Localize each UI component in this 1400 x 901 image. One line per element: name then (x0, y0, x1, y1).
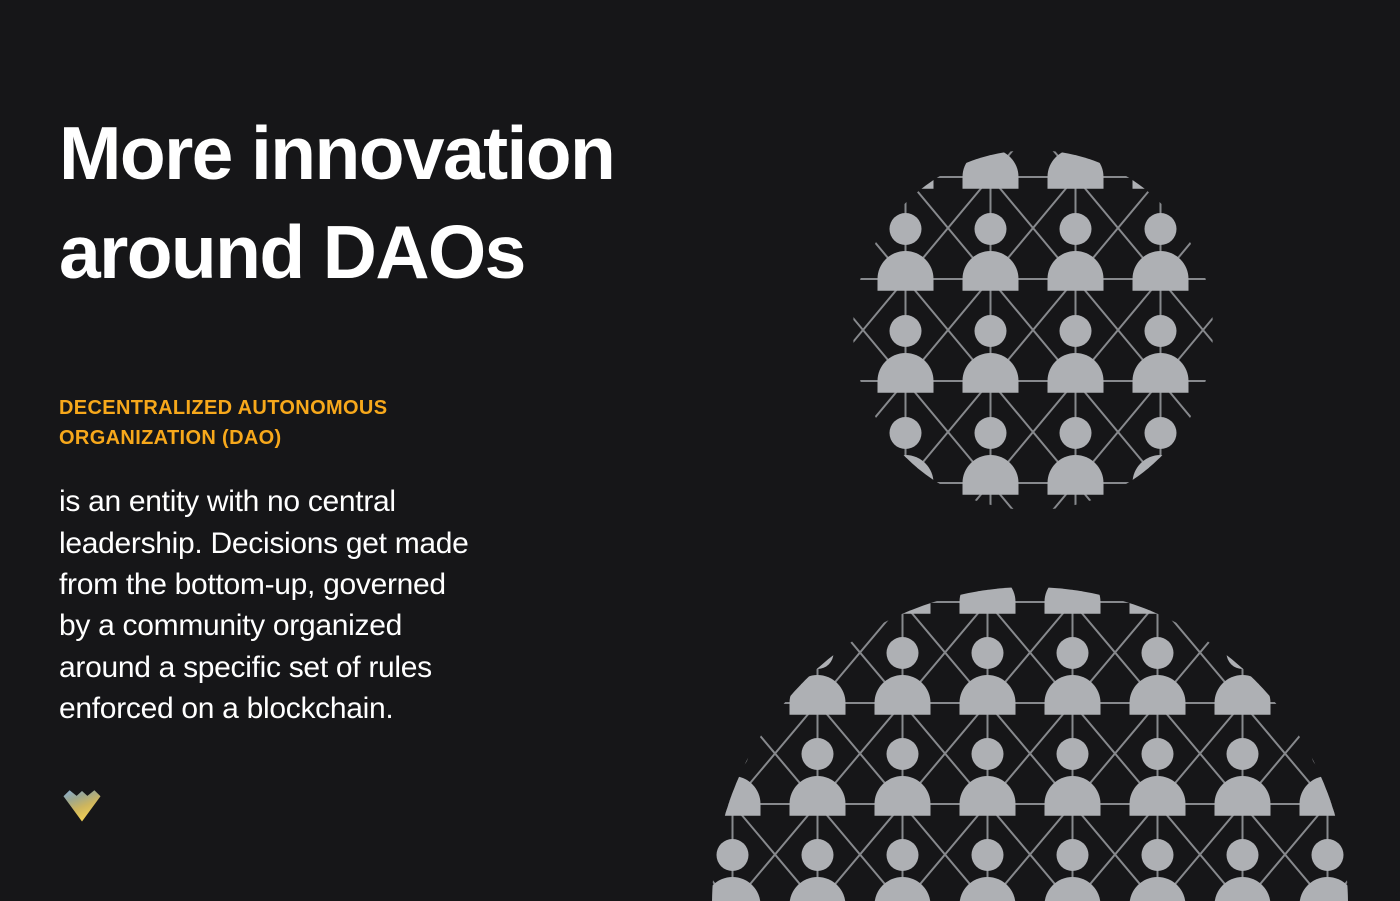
term-label: DECENTRALIZED AUTONOMOUS ORGANIZATION (D… (59, 394, 529, 453)
dao-network-circle-bottom (700, 575, 1360, 901)
definition-text: is an entity with no central leadership.… (59, 481, 589, 729)
page-title: More innovation around DAOs (59, 104, 759, 302)
diamond-gem-logo (59, 782, 105, 828)
slide-root: More innovation around DAOs DECENTRALIZE… (0, 0, 1400, 901)
text-column: More innovation around DAOs DECENTRALIZE… (59, 104, 759, 828)
dao-network-circle-top (838, 135, 1228, 525)
